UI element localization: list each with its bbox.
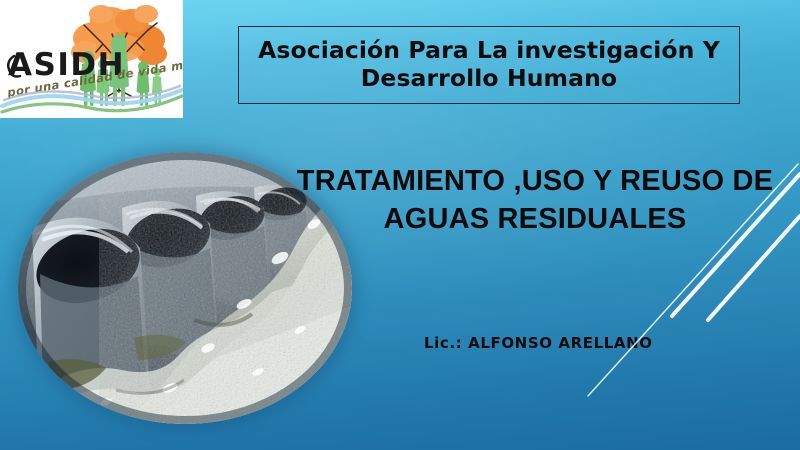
header-title-text: Asociación Para La investigación Y Desar… <box>258 37 720 92</box>
author-label: Lic.: ALFONSO ARELLANO <box>424 334 653 352</box>
header-title-box: Asociación Para La investigación Y Desar… <box>238 26 740 104</box>
presentation-slide: ASIDH por una calidad de vida mejor Asoc… <box>0 0 800 450</box>
main-slide-title: TRATAMIENTO ,USO Y REUSO DE AGUAS RESIDU… <box>270 162 800 239</box>
asidh-logo: ASIDH por una calidad de vida mejor <box>0 0 183 118</box>
asidh-logo-graphic: ASIDH por una calidad de vida mejor <box>0 0 183 118</box>
